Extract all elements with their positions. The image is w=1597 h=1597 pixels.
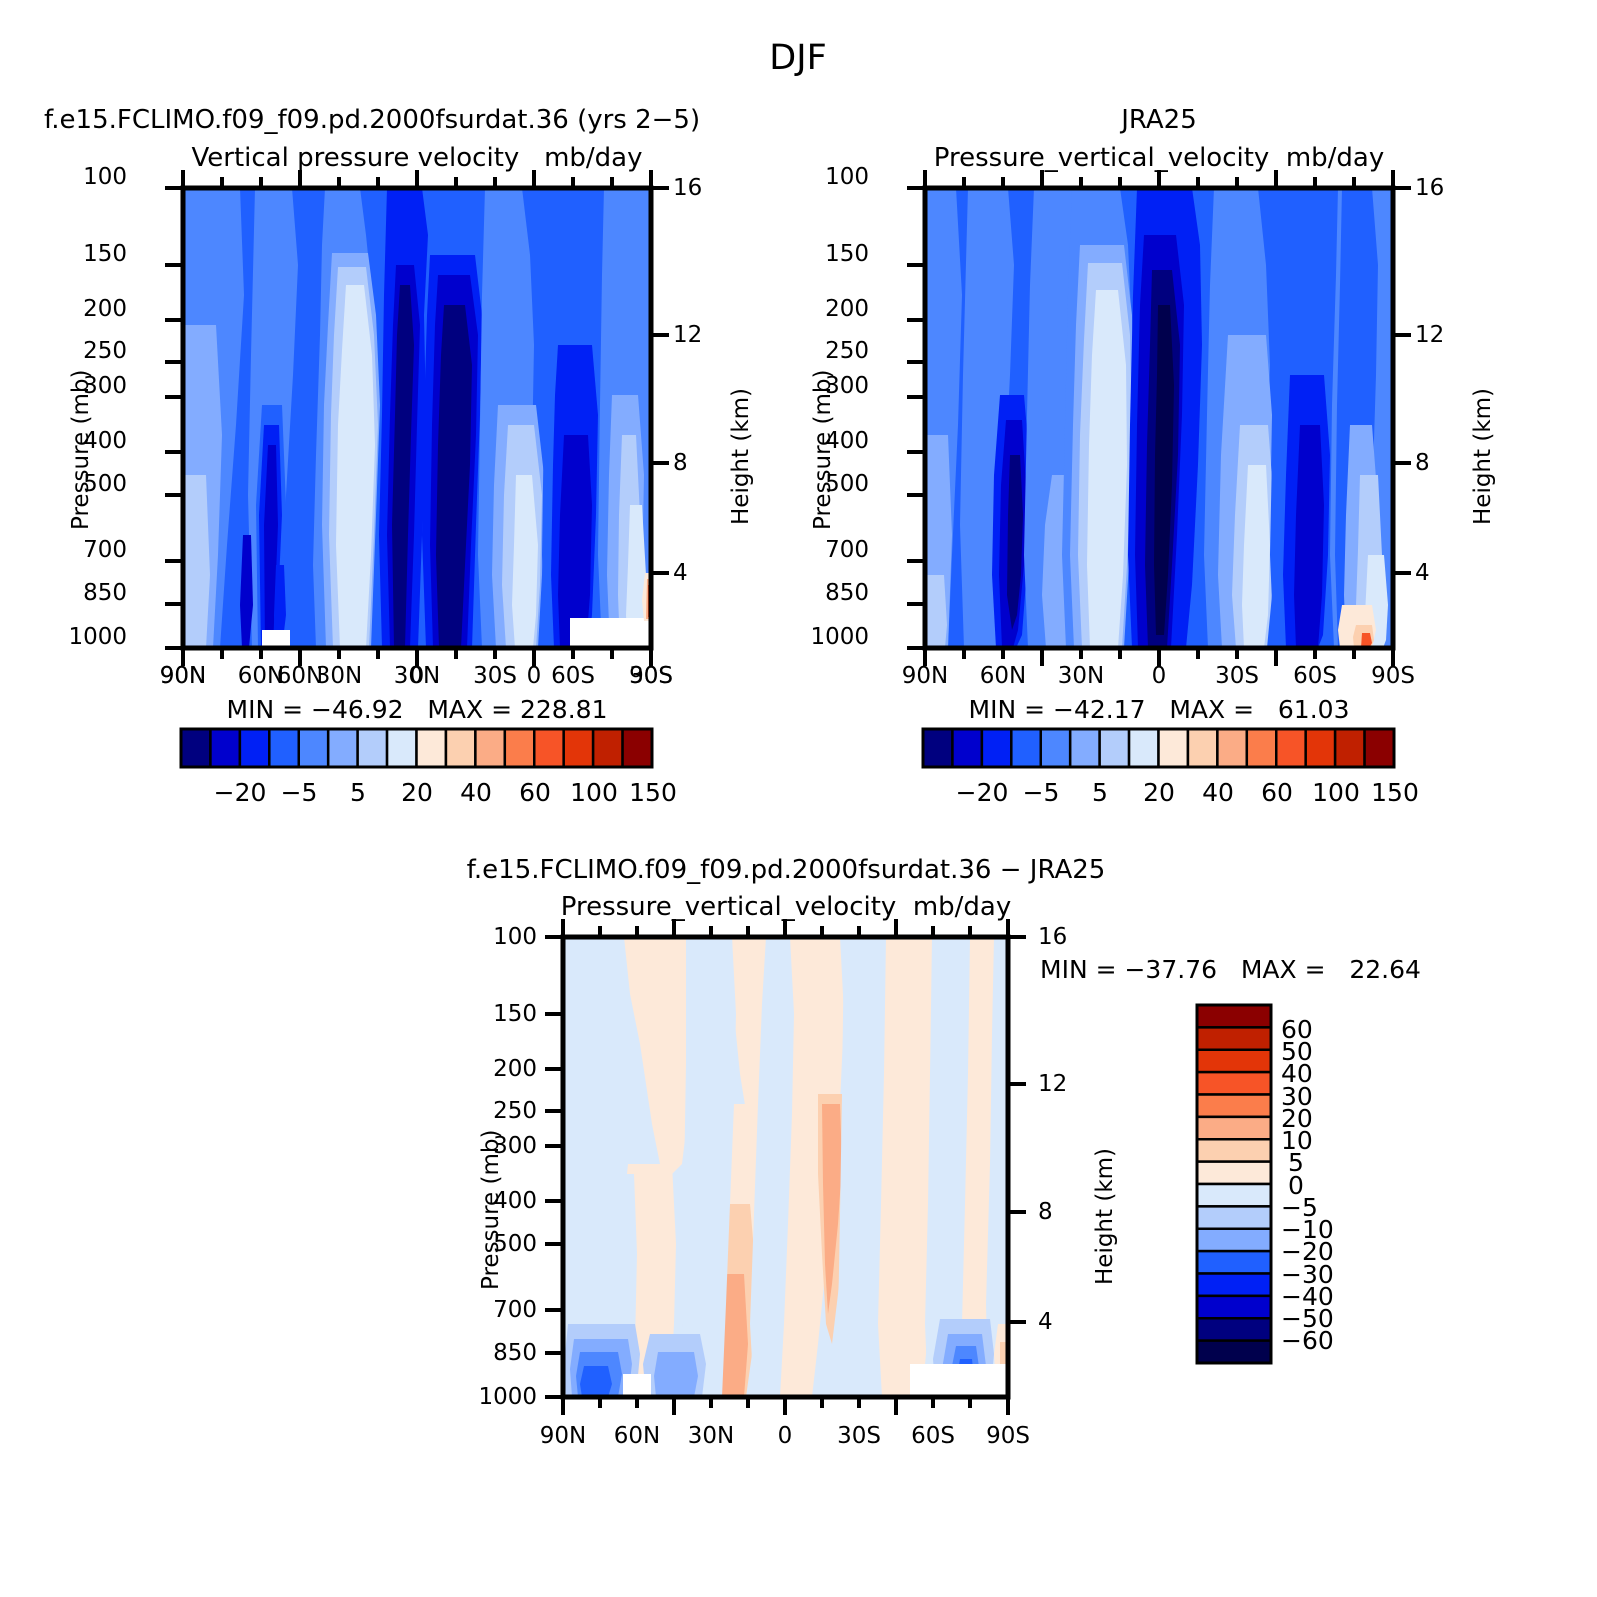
colorbar-swatch[interactable] xyxy=(1197,1162,1271,1184)
colorbar-swatch[interactable] xyxy=(1197,1274,1271,1296)
ytick-model-9: 1000 xyxy=(68,624,127,650)
xtick-obs-lat-90S: 90S xyxy=(1371,663,1415,689)
colorbar-swatch[interactable] xyxy=(1197,1027,1271,1049)
colorbar-swatch[interactable] xyxy=(446,729,475,767)
colorbar-swatch[interactable] xyxy=(923,729,952,767)
colorbar-swatch[interactable] xyxy=(1306,729,1335,767)
colorbar-swatch[interactable] xyxy=(475,729,504,767)
cbar-model-label-2: 5 xyxy=(350,778,366,807)
colorbar-swatch[interactable] xyxy=(417,729,446,767)
colorbar-model[interactable] xyxy=(181,729,661,769)
contour-field-model xyxy=(183,188,651,648)
panel-obs-plot xyxy=(772,175,1472,675)
colorbar-swatch[interactable] xyxy=(952,729,981,767)
cbar-model-label-1: −5 xyxy=(281,778,318,807)
panel-model-minmax: MIN = −46.92 MAX = 228.81 xyxy=(227,695,608,724)
ytick-diff-1: 150 xyxy=(493,1001,537,1027)
y2tick-model-2: 8 xyxy=(673,450,688,476)
y2tick-model-0: 16 xyxy=(673,175,702,201)
xtick-diff-lat-30N: 30N xyxy=(688,1423,734,1449)
cbar-obs-label-6: 100 xyxy=(1312,778,1360,807)
cbar-obs-label-4: 40 xyxy=(1202,778,1234,807)
ytick-model-8: 850 xyxy=(83,580,127,606)
ytick-obs-9: 1000 xyxy=(810,624,869,650)
cbar-model-label-0: −20 xyxy=(214,778,267,807)
ytick-model-3: 250 xyxy=(83,338,127,364)
panel-diff-plot xyxy=(500,924,1060,1424)
colorbar-swatch[interactable] xyxy=(1100,729,1129,767)
panel-diff-minmax: MIN = −37.76 MAX = 22.64 xyxy=(1040,955,1421,984)
xtick-obs-lat-90N: 90N xyxy=(902,663,948,689)
ytick-model-2: 200 xyxy=(83,296,127,322)
y2tick-obs-3: 4 xyxy=(1415,560,1430,586)
panel-diff-ylabel: Pressure (mb) xyxy=(478,1130,504,1290)
xtick-diff-lat-30S: 30S xyxy=(837,1423,881,1449)
panel-obs-y2label: Height (km) xyxy=(1470,388,1496,525)
panel-model-variable-label: Vertical pressure velocity mb/day xyxy=(192,143,643,173)
colorbar-swatch[interactable] xyxy=(1197,1318,1271,1340)
cbar-obs-label-0: −20 xyxy=(956,778,1009,807)
colorbar-swatch[interactable] xyxy=(505,729,534,767)
xtick-diff-lat-90S: 90S xyxy=(986,1423,1030,1449)
colorbar-swatch[interactable] xyxy=(210,729,239,767)
xtick-model-lat-60N: 60N xyxy=(238,663,284,689)
contour-field-obs xyxy=(925,188,1393,648)
ytick-obs-3: 250 xyxy=(825,338,869,364)
colorbar-swatch[interactable] xyxy=(1217,729,1246,767)
ytick-model-7: 700 xyxy=(83,537,127,563)
xtick-obs-lat-60N: 60N xyxy=(980,663,1026,689)
colorbar-swatch[interactable] xyxy=(328,729,357,767)
xtick-diff-lat-60S: 60S xyxy=(911,1423,955,1449)
ytick-obs-8: 850 xyxy=(825,580,869,606)
colorbar-swatch[interactable] xyxy=(1335,729,1364,767)
y2tick-obs-2: 8 xyxy=(1415,450,1430,476)
panel-model-y2label: Height (km) xyxy=(728,388,754,525)
cbar-diff-label-14: −60 xyxy=(1281,1326,1334,1355)
xtick-diff-lat-60N: 60N xyxy=(614,1423,660,1449)
colorbar-swatch[interactable] xyxy=(387,729,416,767)
colorbar-diff[interactable] xyxy=(1197,1005,1287,1385)
main-title: DJF xyxy=(769,38,826,78)
cbar-model-label-6: 100 xyxy=(570,778,618,807)
cbar-obs-label-1: −5 xyxy=(1023,778,1060,807)
colorbar-swatch[interactable] xyxy=(1197,1005,1271,1027)
panel-diff-title: f.e15.FCLIMO.f09_f09.pd.2000fsurdat.36 −… xyxy=(467,855,1106,885)
xtick-model-lat-0: 0 xyxy=(410,663,425,689)
colorbar-swatch[interactable] xyxy=(1197,1072,1271,1094)
y2tick-model-1: 12 xyxy=(673,322,702,348)
panel-obs-title: JRA25 xyxy=(1121,105,1197,135)
cbar-obs-label-2: 5 xyxy=(1092,778,1108,807)
ytick-diff-8: 850 xyxy=(493,1340,537,1366)
cbar-model-label-7: 150 xyxy=(629,778,677,807)
ytick-model-1: 150 xyxy=(83,241,127,267)
colorbar-swatch[interactable] xyxy=(1276,729,1305,767)
ytick-diff-3: 250 xyxy=(493,1098,537,1124)
cbar-obs-label-5: 60 xyxy=(1261,778,1293,807)
y2tick-diff-1: 12 xyxy=(1038,1071,1067,1097)
colorbar-swatch[interactable] xyxy=(1197,1184,1271,1206)
colorbar-swatch[interactable] xyxy=(181,729,210,767)
colorbar-swatch[interactable] xyxy=(1197,1050,1271,1072)
ytick-obs-7: 700 xyxy=(825,537,869,563)
y2tick-diff-3: 4 xyxy=(1038,1309,1053,1335)
panel-obs-ylabel: Pressure (mb) xyxy=(810,370,836,530)
xtick-obs-lat-0: 0 xyxy=(1152,663,1167,689)
xtick-model-3: 0 xyxy=(527,663,542,689)
colorbar-swatch[interactable] xyxy=(1011,729,1040,767)
xtick-obs-lat-30N: 30N xyxy=(1058,663,1104,689)
colorbar-swatch[interactable] xyxy=(534,729,563,767)
panel-model-plot xyxy=(30,175,730,675)
cbar-model-label-5: 60 xyxy=(519,778,551,807)
xtick-diff-lat-90N: 90N xyxy=(540,1423,586,1449)
ytick-diff-0: 100 xyxy=(493,924,537,950)
panel-diff-variable-label: Pressure_vertical_velocity mb/day xyxy=(561,892,1012,922)
xtick-model-lat-90S: 90S xyxy=(629,663,673,689)
cbar-model-label-3: 20 xyxy=(401,778,433,807)
colorbar-swatch[interactable] xyxy=(1041,729,1070,767)
xtick-model-lat-90N: 90N xyxy=(160,663,206,689)
y2tick-diff-2: 8 xyxy=(1038,1199,1053,1225)
xtick-diff-lat-0: 0 xyxy=(778,1423,793,1449)
colorbar-swatch[interactable] xyxy=(1197,1206,1271,1228)
ytick-diff-7: 700 xyxy=(493,1297,537,1323)
colorbar-swatch[interactable] xyxy=(593,729,622,767)
y2tick-obs-0: 16 xyxy=(1415,175,1444,201)
colorbar-swatch[interactable] xyxy=(358,729,387,767)
colorbar-swatch[interactable] xyxy=(1159,729,1188,767)
cbar-obs-label-7: 150 xyxy=(1371,778,1419,807)
colorbar-swatch[interactable] xyxy=(1365,729,1394,767)
y2tick-model-3: 4 xyxy=(673,560,688,586)
xtick-obs-lat-30S: 30S xyxy=(1215,663,1259,689)
colorbar-swatch[interactable] xyxy=(1197,1296,1271,1318)
panel-obs-minmax: MIN = −42.17 MAX = 61.03 xyxy=(969,695,1350,724)
colorbar-swatch[interactable] xyxy=(269,729,298,767)
y2tick-diff-0: 16 xyxy=(1038,924,1067,950)
panel-model-title: f.e15.FCLIMO.f09_f09.pd.2000fsurdat.36 (… xyxy=(44,105,700,135)
colorbar-swatch[interactable] xyxy=(1070,729,1099,767)
colorbar-swatch[interactable] xyxy=(1197,1095,1271,1117)
colorbar-swatch[interactable] xyxy=(623,729,652,767)
ytick-model-0: 100 xyxy=(83,164,127,190)
colorbar-swatch[interactable] xyxy=(1188,729,1217,767)
colorbar-swatch[interactable] xyxy=(1247,729,1276,767)
colorbar-swatch[interactable] xyxy=(1197,1117,1271,1139)
colorbar-swatch[interactable] xyxy=(240,729,269,767)
ytick-obs-1: 150 xyxy=(825,241,869,267)
panel-model-ylabel: Pressure (mb) xyxy=(68,370,94,530)
ytick-obs-0: 100 xyxy=(825,164,869,190)
ytick-diff-2: 200 xyxy=(493,1056,537,1082)
colorbar-swatch[interactable] xyxy=(564,729,593,767)
cbar-obs-label-3: 20 xyxy=(1143,778,1175,807)
xtick-model-lat-30S: 30S xyxy=(473,663,517,689)
colorbar-swatch[interactable] xyxy=(299,729,328,767)
figure-canvas: DJF f.e15.FCLIMO.f09_f09.pd.2000fsurdat.… xyxy=(0,0,1597,1597)
ytick-obs-2: 200 xyxy=(825,296,869,322)
xtick-model-lat-30N: 30N xyxy=(316,663,362,689)
colorbar-swatch[interactable] xyxy=(982,729,1011,767)
xtick-model-lat-60S: 60S xyxy=(551,663,595,689)
colorbar-swatch[interactable] xyxy=(1197,1341,1271,1363)
ytick-diff-9: 1000 xyxy=(478,1384,537,1410)
colorbar-swatch[interactable] xyxy=(1129,729,1158,767)
xtick-obs-lat-60S: 60S xyxy=(1293,663,1337,689)
colorbar-swatch[interactable] xyxy=(1197,1251,1271,1273)
cbar-model-label-4: 40 xyxy=(460,778,492,807)
panel-diff-y2label: Height (km) xyxy=(1092,1148,1118,1285)
y2tick-obs-1: 12 xyxy=(1415,322,1444,348)
colorbar-obs[interactable] xyxy=(923,729,1403,769)
colorbar-swatch[interactable] xyxy=(1197,1229,1271,1251)
colorbar-swatch[interactable] xyxy=(1197,1139,1271,1161)
panel-obs-variable-label: Pressure_vertical_velocity mb/day xyxy=(934,143,1385,173)
contour-field-diff xyxy=(563,937,1008,1397)
